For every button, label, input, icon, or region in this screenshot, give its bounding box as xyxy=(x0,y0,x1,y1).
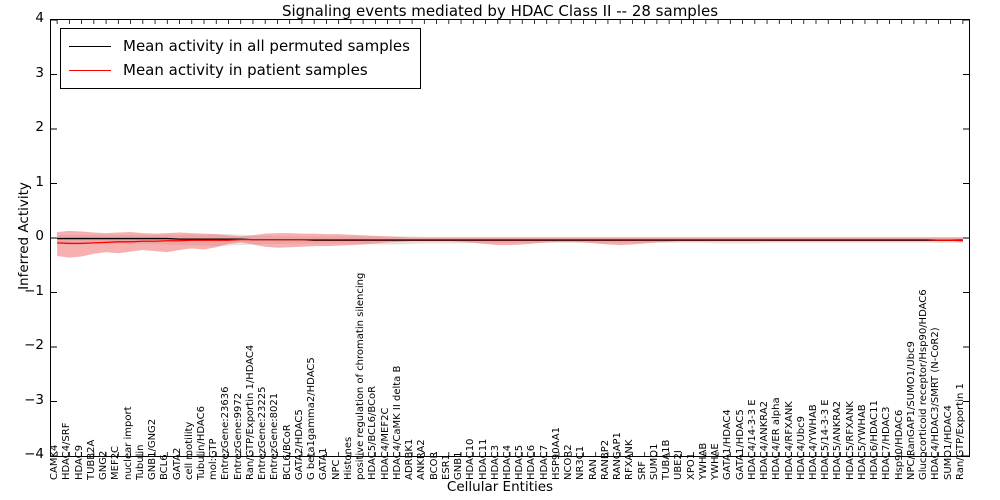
x-tick-label: EntrezGene:8021 xyxy=(270,393,280,480)
x-tick-label: RANGAP1 xyxy=(613,432,623,480)
x-tick-label: HDAC4 xyxy=(503,445,513,480)
x-tick-label: BCL6/BCoR xyxy=(283,424,293,480)
x-tick-label: HDAC5/ANKRA2 xyxy=(833,401,843,480)
x-tick-label: GNB1/GNG2 xyxy=(148,419,158,480)
x-tick-label: GATA1/HDAC5 xyxy=(736,409,746,480)
x-tick-label: Ran/GTP/Exportin 1/HDAC4 xyxy=(246,345,256,480)
x-tick-label: HDAC5/BCL6/BCoR xyxy=(368,386,378,480)
y-tick-label: 2 xyxy=(2,119,44,135)
x-tick-label: Hsp90/HDAC6 xyxy=(895,410,905,480)
x-tick-label: HDAC4/YWHAB xyxy=(809,404,819,480)
x-tick-label: NPC xyxy=(332,460,342,481)
x-tick-label: HDAC7/HDAC3 xyxy=(882,407,892,480)
legend-color-swatch xyxy=(69,46,111,47)
x-tick-label: NR3C1 xyxy=(576,446,586,480)
x-tick-label: GATA1/HDAC4 xyxy=(723,409,733,480)
x-tick-label: HDAC4/Ubc9 xyxy=(797,416,807,480)
y-axis-ticks: 43210−1−2−3−4 xyxy=(0,0,44,500)
x-tick-label: UBE2I xyxy=(674,450,684,480)
x-tick-label: HDAC7 xyxy=(540,445,550,480)
x-tick-label: EntrezGene:9972 xyxy=(234,393,244,480)
chart-figure: Signaling events mediated by HDAC Class … xyxy=(0,0,1000,500)
x-tick-label: RFXANK xyxy=(625,440,635,480)
x-tick-label: ESR1 xyxy=(442,454,452,480)
x-axis-ticks: CAMK4HDAC4/SRFHDAC9TUBB2AGNG2MEF2Cnuclea… xyxy=(50,458,970,480)
x-tick-label: MEF2C xyxy=(111,446,121,480)
x-tick-label: RAN xyxy=(589,459,599,480)
y-tick-label: −3 xyxy=(2,392,44,408)
chart-title: Signaling events mediated by HDAC Class … xyxy=(0,2,1000,20)
x-tick-label: HDAC5/14-3-3 E xyxy=(821,399,831,480)
x-tick-label: GATA2 xyxy=(173,448,183,480)
x-tick-label: SUMO1 xyxy=(650,443,660,480)
x-tick-label: HSP90AA1 xyxy=(552,427,562,480)
x-tick-label: TUBB2A xyxy=(87,440,97,480)
x-tick-label: GATA2/HDAC5 xyxy=(295,409,305,480)
legend-label: Mean activity in patient samples xyxy=(123,61,368,79)
x-tick-label: TUBA1B xyxy=(662,440,672,480)
x-tick-label: Ran/GTP/Exportin 1 xyxy=(956,383,966,480)
x-tick-label: BCL6 xyxy=(160,454,170,480)
x-tick-label: NCOR2 xyxy=(564,444,574,480)
x-tick-label: SRF xyxy=(638,461,648,480)
x-tick-label: HDAC4/14-3-3 E xyxy=(748,399,758,480)
x-tick-label: Tubulin/HDAC6 xyxy=(197,406,207,480)
x-tick-label: HDAC5/YWHAB xyxy=(858,404,868,480)
x-tick-label: Glucocorticoid receptor/Hsp90/HDAC6 xyxy=(919,289,929,480)
x-tick-label: HDAC4/HDAC3/SMRT (N-CoR2) xyxy=(931,327,941,480)
x-tick-label: HDAC10 xyxy=(466,439,476,480)
x-tick-label: HDAC3 xyxy=(491,445,501,480)
legend-label: Mean activity in all permuted samples xyxy=(123,37,410,55)
x-tick-label: GATA1 xyxy=(319,448,329,480)
x-tick-label: HDAC5/RFXANK xyxy=(846,401,856,480)
x-tick-label: HDAC11 xyxy=(479,439,489,480)
confidence-band xyxy=(57,231,963,258)
legend-color-swatch xyxy=(69,70,111,71)
x-tick-label: GNG2 xyxy=(99,451,109,480)
x-tick-label: Histones xyxy=(344,437,354,480)
x-tick-label: HDAC9 xyxy=(75,445,85,480)
x-tick-label: HDAC6/HDAC11 xyxy=(870,400,880,480)
x-tick-label: ADRBK1 xyxy=(405,439,415,480)
y-tick-label: −1 xyxy=(2,283,44,299)
x-axis-label: Cellular Entities xyxy=(0,479,1000,495)
y-tick-label: 1 xyxy=(2,174,44,190)
chart-legend: Mean activity in all permuted samplesMea… xyxy=(60,28,421,89)
x-tick-label: HDAC4/CaMK II delta B xyxy=(393,366,403,480)
legend-item: Mean activity in all permuted samples xyxy=(69,34,410,58)
x-tick-label: EntrezGene:23225 xyxy=(258,387,268,480)
x-tick-label: HDAC4/SRF xyxy=(62,423,72,480)
x-tick-label: YWHAB xyxy=(699,443,709,480)
x-tick-label: HDAC5 xyxy=(515,445,525,480)
x-tick-label: HDAC4/RFXANK xyxy=(785,401,795,480)
x-tick-label: RANBP2 xyxy=(601,440,611,480)
x-tick-label: ANKRA2 xyxy=(417,439,427,480)
x-tick-label: XPO1 xyxy=(687,453,697,480)
x-tick-label: Tubulin xyxy=(136,444,146,480)
y-tick-label: 0 xyxy=(2,228,44,244)
x-tick-label: SUMO1/HDAC4 xyxy=(944,405,954,480)
x-tick-label: HDAC4/ANKRA2 xyxy=(760,401,770,480)
y-tick-label: −2 xyxy=(2,337,44,353)
x-tick-label: HDAC6 xyxy=(527,445,537,480)
x-tick-label: BCOR xyxy=(430,452,440,481)
x-tick-label: CAMK4 xyxy=(50,445,60,480)
x-tick-label: YWHAE xyxy=(711,443,721,480)
y-tick-label: 3 xyxy=(2,65,44,81)
legend-item: Mean activity in patient samples xyxy=(69,58,410,82)
x-tick-label: nuclear import xyxy=(124,406,134,480)
x-tick-label: G beta1gamma2/HDAC5 xyxy=(307,357,317,480)
x-tick-label: HDAC4/MEF2C xyxy=(381,408,391,480)
x-tick-label: HDAC4/ER alpha xyxy=(772,397,782,480)
y-tick-label: −4 xyxy=(2,446,44,462)
x-tick-label: NPC/RanGAP1/SUMO1/Ubc9 xyxy=(907,341,917,480)
y-tick-label: 4 xyxy=(2,10,44,26)
x-tick-label: GNB1 xyxy=(454,452,464,480)
x-tick-label: mol:GTP xyxy=(209,438,219,480)
x-tick-label: cell motility xyxy=(185,422,195,480)
x-tick-label: positive regulation of chromatin silenci… xyxy=(356,273,366,480)
x-tick-label: EntrezGene:23636 xyxy=(221,387,231,480)
